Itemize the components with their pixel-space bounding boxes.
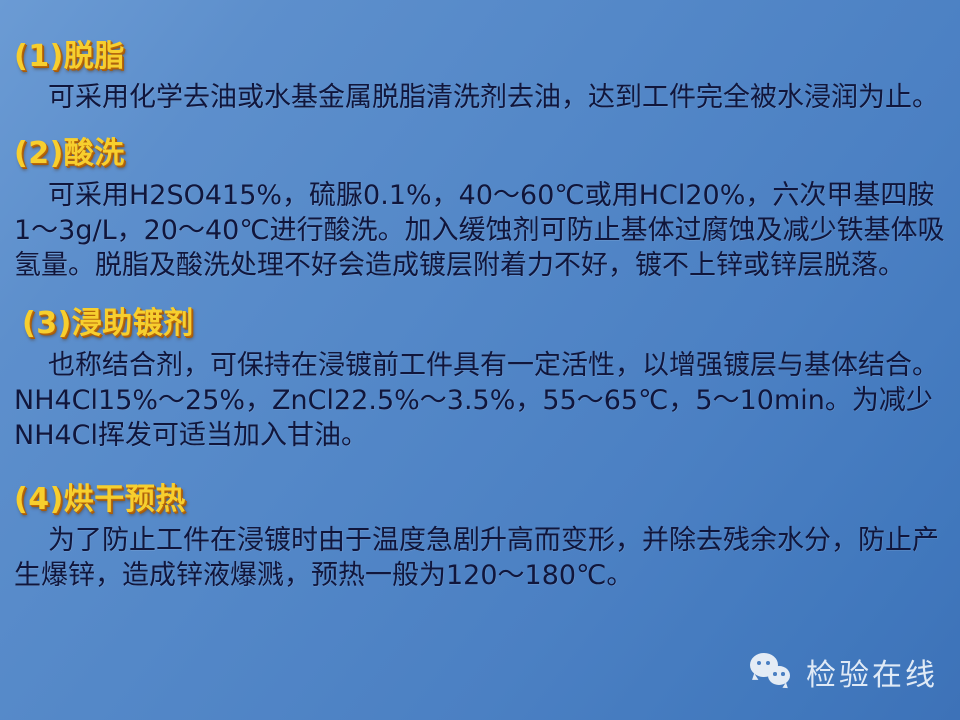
wechat-bubble-small-eye-right <box>781 672 785 676</box>
section-heading-4: (4)烘干预热 <box>14 481 946 519</box>
wechat-bubble-large-eye-left <box>757 661 761 665</box>
section-pickling: (2)酸洗 可采用H2SO415%，硫脲0.1%，40～60℃或用HCl20%，… <box>14 135 946 283</box>
section-drying-preheat: (4)烘干预热 为了防止工件在浸镀时由于温度急剧升高而变形，并除去残余水分，防止… <box>14 481 946 594</box>
wechat-bubble-small <box>768 666 790 685</box>
section-body-2: 可采用H2SO415%，硫脲0.1%，40～60℃或用HCl20%，六次甲基四胺… <box>14 178 946 283</box>
wechat-bubble-large-eye-right <box>766 661 770 665</box>
section-body-1: 可采用化学去油或水基金属脱脂清洗剂去油，达到工件完全被水浸润为止。 <box>14 80 946 115</box>
slide-content: (1)脱脂 可采用化学去油或水基金属脱脂清洗剂去油，达到工件完全被水浸润为止。 … <box>0 0 960 593</box>
wechat-icon <box>750 653 796 691</box>
section-body-3: 也称结合剂，可保持在浸镀前工件具有一定活性，以增强镀层与基体结合。NH4Cl15… <box>14 348 946 453</box>
section-fluxing: (3)浸助镀剂 也称结合剂，可保持在浸镀前工件具有一定活性，以增强镀层与基体结合… <box>14 305 946 453</box>
section-body-4: 为了防止工件在浸镀时由于温度急剧升高而变形，并除去残余水分，防止产生爆锌，造成锌… <box>14 523 946 593</box>
section-heading-1: (1)脱脂 <box>14 38 946 76</box>
section-degreasing: (1)脱脂 可采用化学去油或水基金属脱脂清洗剂去油，达到工件完全被水浸润为止。 <box>14 38 946 115</box>
section-heading-3: (3)浸助镀剂 <box>14 305 946 343</box>
watermark-label: 检验在线 <box>806 650 938 694</box>
watermark: 检验在线 <box>750 650 938 694</box>
slide-canvas: (1)脱脂 可采用化学去油或水基金属脱脂清洗剂去油，达到工件完全被水浸润为止。 … <box>0 0 960 720</box>
wechat-bubble-small-eye-left <box>773 672 777 676</box>
section-heading-2: (2)酸洗 <box>14 135 946 173</box>
